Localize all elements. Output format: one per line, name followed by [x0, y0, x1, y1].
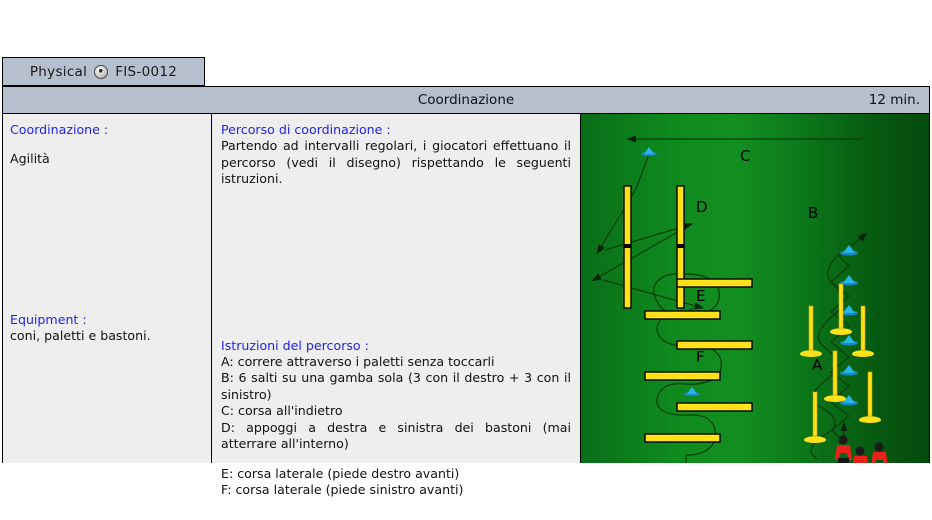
- tab-category-label: Physical: [30, 64, 87, 80]
- player-icon: [871, 443, 888, 464]
- exercise-table: Coordinazione 12 min. Coordinazione : Ag…: [2, 86, 930, 463]
- exercise-header: Coordinazione 12 min.: [3, 87, 929, 114]
- page-title: Coordinazione: [3, 87, 929, 113]
- pitch-background: C D B E F A: [581, 114, 929, 463]
- cone-icon: [840, 245, 858, 255]
- instructions-label: Istruzioni del percorso :: [221, 338, 571, 354]
- pole-icon: [824, 351, 846, 402]
- description-label: Percorso di coordinazione :: [221, 122, 571, 138]
- cone-icon: [641, 147, 657, 156]
- description-column: Percorso di coordinazione : Partendo ad …: [212, 114, 581, 463]
- cone-icon: [840, 335, 858, 345]
- zone-label-b: B: [808, 204, 818, 222]
- diagram-column: C D B E F A: [581, 114, 929, 463]
- exercise-card: Physical FIS-0012 Coordinazione 12 min. …: [0, 0, 932, 520]
- instruction-item: A: correre attraverso i paletti senza to…: [221, 354, 571, 371]
- duration-label: 12 min.: [869, 87, 920, 113]
- pole-icon: [800, 306, 822, 357]
- zone-label-f: F: [696, 348, 705, 366]
- description-text: Partendo ad intervalli regolari, i gioca…: [221, 138, 571, 188]
- zone-label-c: C: [740, 147, 750, 165]
- stick-icon: [624, 186, 631, 308]
- theme-label: Coordinazione :: [10, 122, 204, 138]
- theme-value: Agilità: [10, 151, 204, 168]
- equipment-value: coni, paletti e bastoni.: [10, 328, 151, 345]
- player-icon: [835, 436, 852, 464]
- path-segment-ef: [657, 274, 721, 455]
- zone-label-e: E: [696, 287, 705, 305]
- pole-icon: [859, 372, 881, 423]
- category-tab[interactable]: Physical FIS-0012: [2, 57, 205, 86]
- instruction-item: C: corsa all'indietro: [221, 403, 571, 420]
- course-drawing: [581, 114, 929, 463]
- stick-icon: [677, 186, 684, 308]
- bar-icon: [677, 403, 752, 411]
- players-group: [835, 436, 888, 464]
- pole-icon: [804, 392, 826, 443]
- exercise-body: Coordinazione : Agilità Equipment : coni…: [3, 114, 929, 463]
- cone-icon: [840, 365, 858, 375]
- zone-label-d: D: [696, 198, 708, 216]
- bar-icon: [677, 279, 752, 287]
- bar-icon: [677, 341, 752, 349]
- bar-icon: [645, 434, 720, 442]
- equipment-block: Equipment : coni, paletti e bastoni.: [10, 312, 151, 345]
- theme-column: Coordinazione : Agilità Equipment : coni…: [3, 114, 212, 463]
- tab-code-label: FIS-0012: [115, 64, 177, 80]
- cone-icon: [684, 387, 700, 396]
- instruction-item: D: appoggi a destra e sinistra dei basto…: [221, 420, 571, 453]
- instruction-item: B: 6 salti su una gamba sola (3 con il d…: [221, 370, 571, 403]
- zone-label-a: A: [812, 356, 822, 374]
- equipment-label: Equipment :: [10, 312, 151, 328]
- bar-icon: [645, 372, 720, 380]
- instructions-list: A: correre attraverso i paletti senza to…: [221, 354, 571, 453]
- bar-icon: [645, 311, 720, 319]
- soccer-ball-icon: [94, 65, 108, 79]
- player-icon: [852, 447, 869, 464]
- instructions-extra-list: E: corsa laterale (piede destro avanti) …: [221, 466, 571, 499]
- blue-cones-group: [641, 147, 858, 405]
- instruction-item: E: corsa laterale (piede destro avanti): [221, 466, 571, 483]
- instruction-item: F: corsa laterale (piede sinistro avanti…: [221, 482, 571, 499]
